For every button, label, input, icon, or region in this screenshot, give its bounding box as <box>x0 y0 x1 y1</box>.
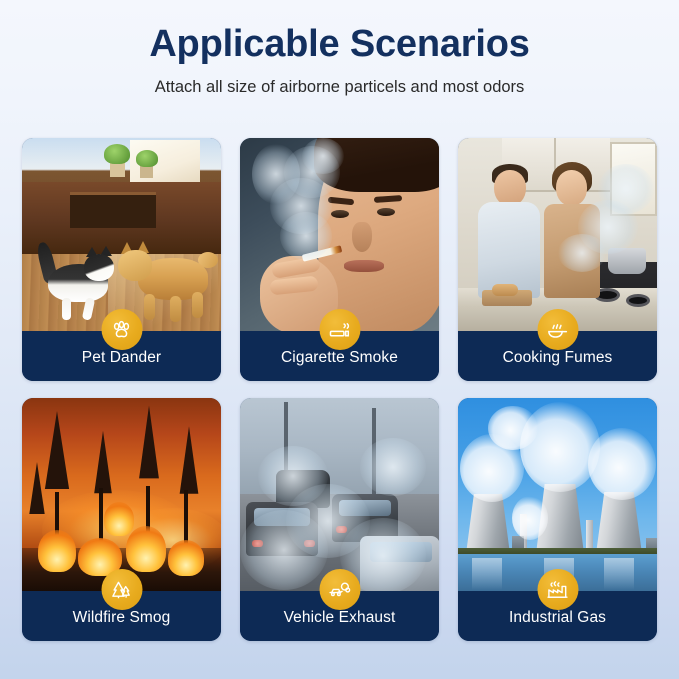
car-exhaust-icon <box>319 569 360 610</box>
paw-print-icon <box>101 309 142 350</box>
page-subtitle: Attach all size of airborne particels an… <box>0 78 679 97</box>
page-title: Applicable Scenarios <box>0 24 679 66</box>
scenario-card-wildfire-smog[interactable]: Wildfire Smog <box>22 398 221 641</box>
scenario-card-grid: Pet Dander <box>22 138 657 641</box>
photo-cooling-towers-emitting-steam <box>458 398 657 593</box>
header: Applicable Scenarios Attach all size of … <box>0 0 679 97</box>
scenario-card-cigarette-smoke[interactable]: Cigarette Smoke <box>240 138 439 381</box>
cigarette-icon <box>319 309 360 350</box>
scenario-card-cooking-fumes[interactable]: Cooking Fumes <box>458 138 657 381</box>
photo-forest-wildfire-flames <box>22 398 221 593</box>
scenario-card-vehicle-exhaust[interactable]: Vehicle Exhaust <box>240 398 439 641</box>
applicable-scenarios-infographic: Applicable Scenarios Attach all size of … <box>0 0 679 679</box>
photo-couple-cooking-in-kitchen <box>458 138 657 333</box>
photo-traffic-jam-with-exhaust-smoke <box>240 398 439 593</box>
photo-cat-and-dog-in-living-room <box>22 138 221 333</box>
factory-smokestack-icon <box>537 569 578 610</box>
photo-man-smoking-cigarette <box>240 138 439 333</box>
frying-pan-steam-icon <box>537 309 578 350</box>
scenario-card-pet-dander[interactable]: Pet Dander <box>22 138 221 381</box>
pine-trees-fire-icon <box>101 569 142 610</box>
scenario-card-industrial-gas[interactable]: Industrial Gas <box>458 398 657 641</box>
